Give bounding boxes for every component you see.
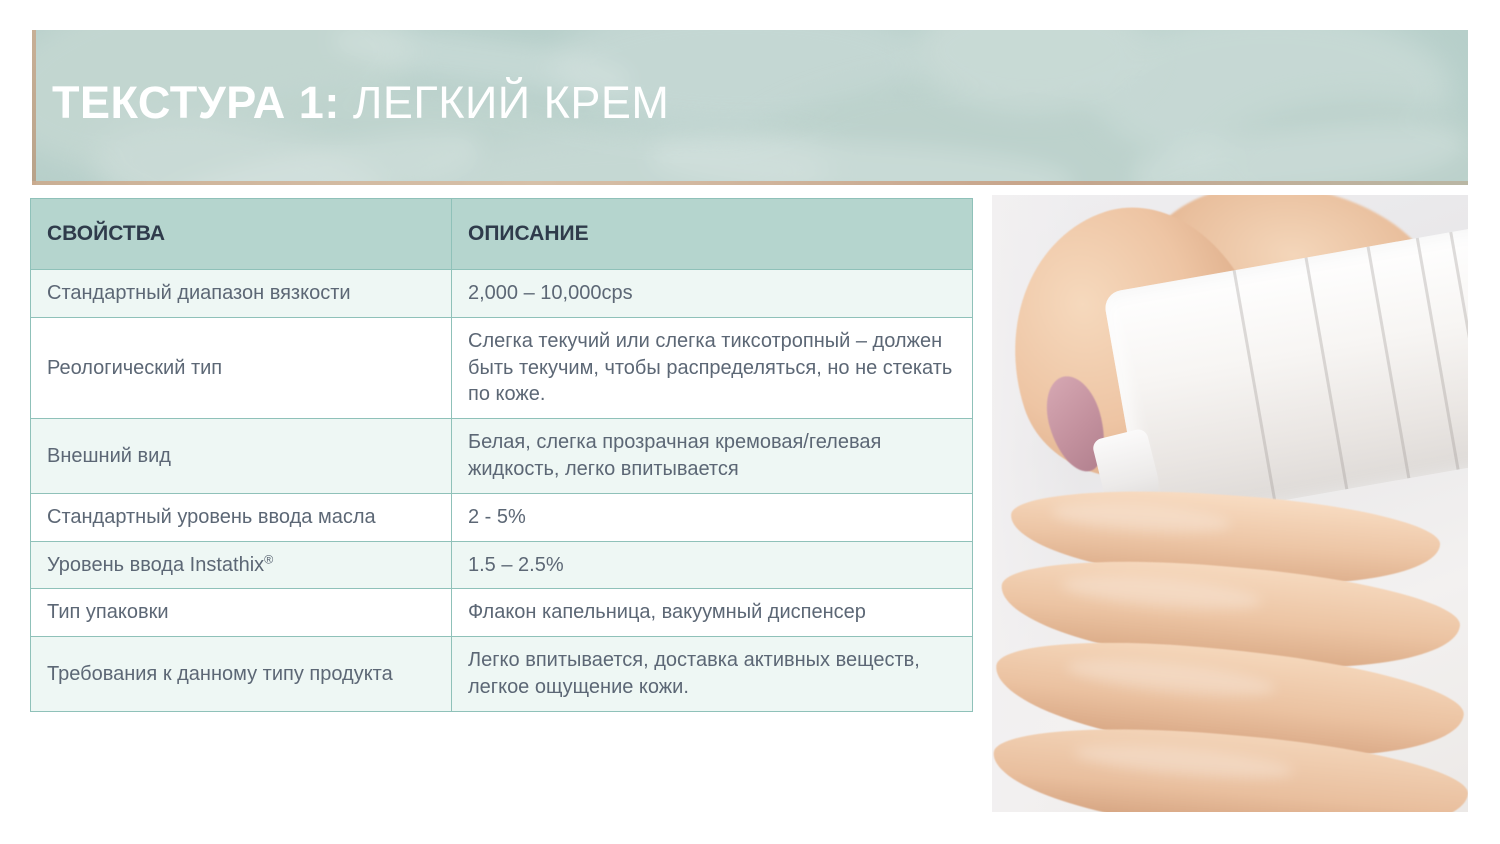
- banner-left-accent-edge: [32, 30, 36, 185]
- table-row: Стандартный уровень ввода масла 2 - 5%: [31, 493, 973, 541]
- column-header-description: ОПИСАНИЕ: [452, 199, 973, 270]
- table-row: Уровень ввода Instathix® 1.5 – 2.5%: [31, 541, 973, 589]
- page-title: ТЕКСТУРА 1: ЛЕГКИЙ КРЕМ: [52, 80, 669, 125]
- cell-property: Уровень ввода Instathix®: [31, 541, 452, 589]
- table-row: Реологический тип Слегка текучий или сле…: [31, 317, 973, 418]
- cell-description: 1.5 – 2.5%: [452, 541, 973, 589]
- table-header: СВОЙСТВА ОПИСАНИЕ: [31, 199, 973, 270]
- cell-property: Стандартный уровень ввода масла: [31, 493, 452, 541]
- cell-description: Слегка текучий или слегка тиксотропный –…: [452, 317, 973, 418]
- slide-title-banner: ТЕКСТУРА 1: ЛЕГКИЙ КРЕМ: [32, 30, 1468, 185]
- product-photo: [992, 195, 1468, 812]
- cell-property: Реологический тип: [31, 317, 452, 418]
- cell-property: Требования к данному типу продукта: [31, 637, 452, 712]
- table-body: Стандартный диапазон вязкости 2,000 – 10…: [31, 270, 973, 712]
- table-row: Стандартный диапазон вязкости 2,000 – 10…: [31, 270, 973, 318]
- specifications-table: СВОЙСТВА ОПИСАНИЕ Стандартный диапазон в…: [30, 198, 973, 712]
- cell-description: Флакон капельница, вакуумный диспенсер: [452, 589, 973, 637]
- cell-description: Белая, слегка прозрачная кремовая/гелева…: [452, 419, 973, 494]
- registered-trademark-symbol: ®: [264, 552, 273, 566]
- banner-bottom-accent-edge: [32, 181, 1468, 185]
- table-row: Внешний вид Белая, слегка прозрачная кре…: [31, 419, 973, 494]
- cell-description: Легко впитывается, доставка активных вещ…: [452, 637, 973, 712]
- page-title-light: ЛЕГКИЙ КРЕМ: [353, 77, 670, 128]
- cell-description: 2 - 5%: [452, 493, 973, 541]
- page-title-strong: ТЕКСТУРА 1:: [52, 77, 340, 128]
- cell-property-text: Уровень ввода Instathix: [47, 554, 264, 576]
- column-header-properties: СВОЙСТВА: [31, 199, 452, 270]
- cell-description: 2,000 – 10,000cps: [452, 270, 973, 318]
- table-header-row: СВОЙСТВА ОПИСАНИЕ: [31, 199, 973, 270]
- cell-property: Тип упаковки: [31, 589, 452, 637]
- cell-property: Стандартный диапазон вязкости: [31, 270, 452, 318]
- table-row: Требования к данному типу продукта Легко…: [31, 637, 973, 712]
- table-row: Тип упаковки Флакон капельница, вакуумны…: [31, 589, 973, 637]
- cell-property: Внешний вид: [31, 419, 452, 494]
